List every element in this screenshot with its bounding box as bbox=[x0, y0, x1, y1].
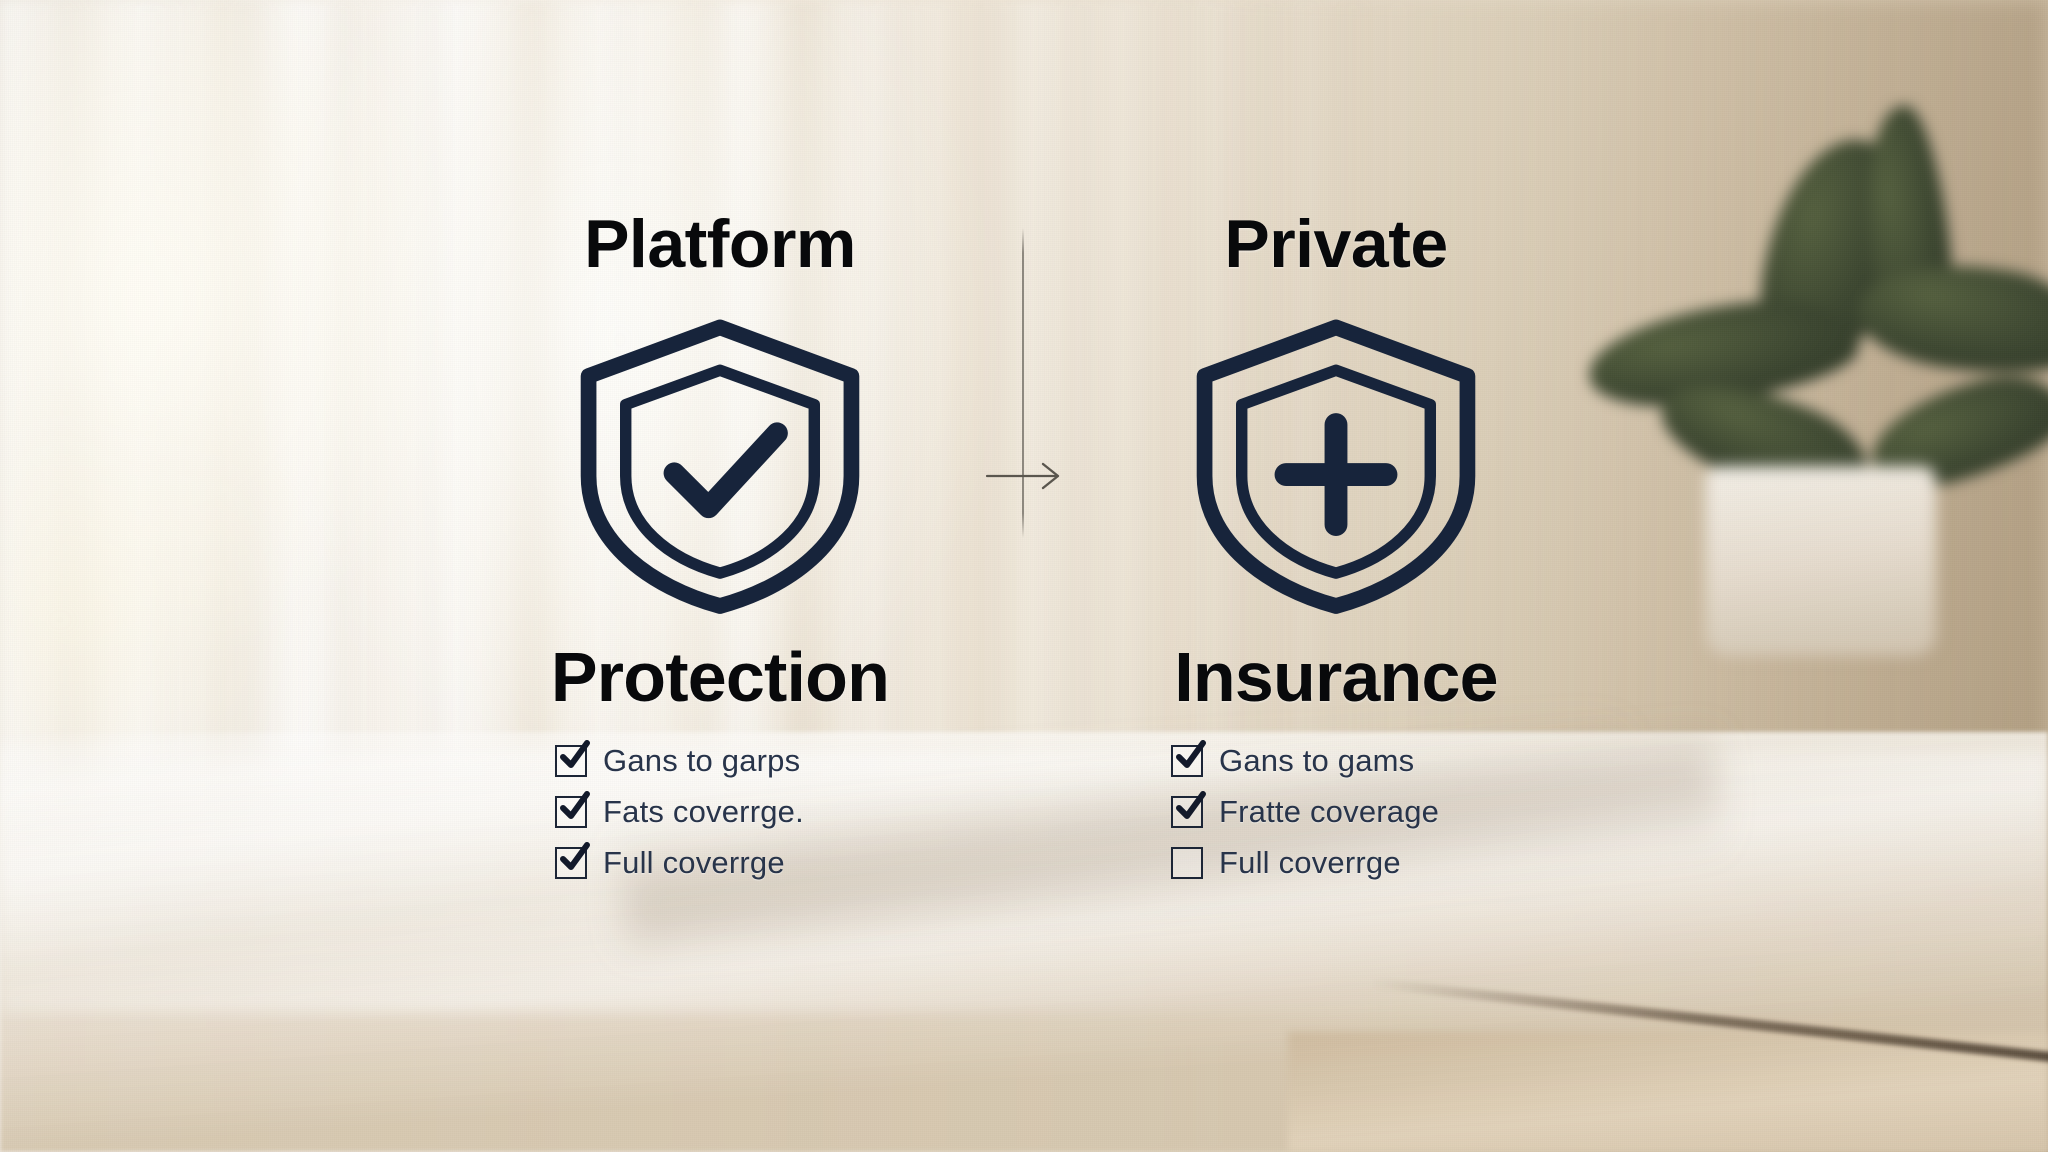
platform-title-top: Platform bbox=[584, 210, 856, 278]
checkbox-checked-icon[interactable] bbox=[555, 796, 587, 828]
list-item[interactable]: Gans to garps bbox=[555, 742, 885, 780]
shield-check-icon bbox=[575, 316, 865, 616]
checkbox-checked-icon[interactable] bbox=[1171, 796, 1203, 828]
column-private-insurance: Private Insurance Gans to gams bbox=[1056, 210, 1616, 882]
private-title-top: Private bbox=[1224, 210, 1447, 278]
private-title-bottom: Insurance bbox=[1174, 642, 1498, 712]
checkbox-checked-icon[interactable] bbox=[1171, 745, 1203, 777]
private-checklist: Gans to gams Fratte coverage Full coverr… bbox=[1171, 742, 1501, 882]
infographic-canvas: Platform Protection Gans to garps bbox=[0, 0, 2048, 1152]
checkbox-checked-icon[interactable] bbox=[555, 745, 587, 777]
list-item[interactable]: Full coverrge bbox=[555, 844, 885, 882]
platform-title-bottom: Protection bbox=[551, 642, 889, 712]
list-item[interactable]: Fratte coverage bbox=[1171, 793, 1501, 831]
list-item[interactable]: Full coverrge bbox=[1171, 844, 1501, 882]
checkbox-unchecked-icon[interactable] bbox=[1171, 847, 1203, 879]
list-item-label: Fats coverrge. bbox=[603, 794, 804, 830]
list-item-label: Full coverrge bbox=[1219, 845, 1401, 881]
checkbox-checked-icon[interactable] bbox=[555, 847, 587, 879]
column-platform-protection: Platform Protection Gans to garps bbox=[440, 210, 1000, 882]
list-item-label: Gans to garps bbox=[603, 743, 800, 779]
list-item-label: Fratte coverage bbox=[1219, 794, 1439, 830]
overlay-content: Platform Protection Gans to garps bbox=[0, 0, 2048, 1152]
list-item-label: Gans to gams bbox=[1219, 743, 1414, 779]
list-item[interactable]: Fats coverrge. bbox=[555, 793, 885, 831]
shield-plus-icon bbox=[1191, 316, 1481, 616]
arrow-right-icon bbox=[985, 458, 1065, 494]
list-item[interactable]: Gans to gams bbox=[1171, 742, 1501, 780]
platform-checklist: Gans to garps Fats coverrge. bbox=[555, 742, 885, 882]
list-item-label: Full coverrge bbox=[603, 845, 785, 881]
